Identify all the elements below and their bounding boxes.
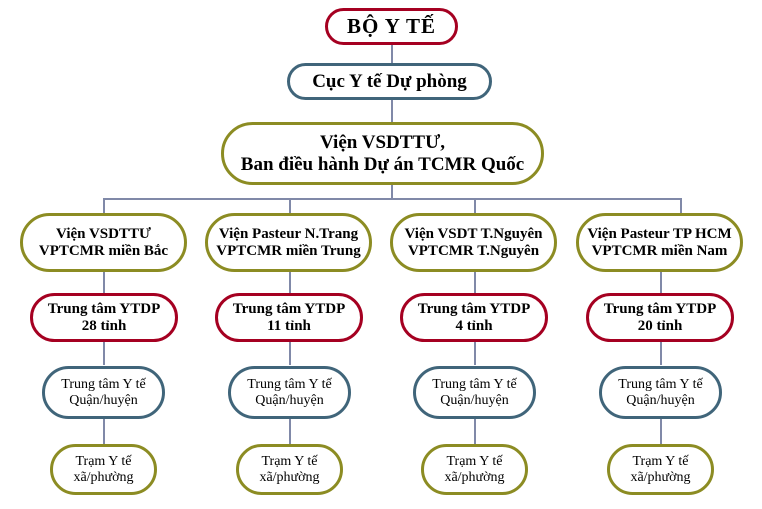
node-district-2-line-2: Quận/huyện [255,393,323,409]
node-district-4-line-2: Quận/huyện [626,393,694,409]
connector-department-to-national-institute [391,98,393,122]
node-commune-station-highlands[interactable]: Trạm Y tế xã/phường [421,444,528,495]
node-ministry[interactable]: BỘ Y TẾ [325,8,458,45]
connector-regional-bus [103,198,681,200]
node-regional-3-line-1: Viện VSDT T.Nguyên [405,226,543,243]
node-provincial-1-line-1: Trung tâm YTDP [48,301,161,318]
node-national-institute-line-1: Viện VSDTTƯ, [320,132,445,153]
connector-bus-to-regional-4 [680,198,682,213]
node-commune-1-line-1: Trạm Y tế [76,454,132,470]
org-chart-canvas: BỘ Y TẾ Cục Y tế Dự phòng Viện VSDTTƯ, B… [0,0,762,509]
node-commune-3-line-2: xã/phường [444,470,504,486]
node-regional-2-line-2: VPTCMR miền Trung [216,243,360,260]
node-commune-2-line-1: Trạm Y tế [262,454,318,470]
node-national-institute-line-2: Ban điều hành Dự án TCMR Quốc [241,154,524,175]
node-district-4-line-1: Trung tâm Y tế [618,377,702,393]
connector-provincial-to-district-3 [474,341,476,365]
node-provincial-center-highlands[interactable]: Trung tâm YTDP 4 tỉnh [400,293,548,342]
connector-national-institute-drop [391,183,393,199]
connector-regional-to-provincial-3 [474,272,476,294]
node-regional-1-line-1: Viện VSDTTƯ [56,226,151,243]
node-commune-1-line-2: xã/phường [73,470,133,486]
node-commune-3-line-1: Trạm Y tế [447,454,503,470]
node-district-center-south[interactable]: Trung tâm Y tế Quận/huyện [599,366,722,419]
node-district-1-line-2: Quận/huyện [69,393,137,409]
node-provincial-1-line-2: 28 tỉnh [82,318,127,335]
node-commune-4-line-1: Trạm Y tế [633,454,689,470]
connector-district-to-commune-4 [660,419,662,444]
node-commune-station-central[interactable]: Trạm Y tế xã/phường [236,444,343,495]
node-commune-station-north[interactable]: Trạm Y tế xã/phường [50,444,157,495]
node-regional-institute-central[interactable]: Viện Pasteur N.Trang VPTCMR miền Trung [205,213,372,272]
node-commune-2-line-2: xã/phường [259,470,319,486]
node-provincial-2-line-1: Trung tâm YTDP [233,301,346,318]
node-district-center-highlands[interactable]: Trung tâm Y tế Quận/huyện [413,366,536,419]
connector-district-to-commune-1 [103,419,105,444]
node-district-3-line-2: Quận/huyện [440,393,508,409]
connector-provincial-to-district-2 [289,341,291,365]
node-regional-institute-south[interactable]: Viện Pasteur TP HCM VPTCMR miền Nam [576,213,743,272]
node-department-line-1: Cục Y tế Dự phòng [312,71,467,92]
node-regional-4-line-2: VPTCMR miền Nam [592,243,728,260]
node-regional-institute-highlands[interactable]: Viện VSDT T.Nguyên VPTCMR T.Nguyên [390,213,557,272]
connector-regional-to-provincial-2 [289,272,291,294]
node-district-3-line-1: Trung tâm Y tế [432,377,516,393]
node-district-1-line-1: Trung tâm Y tế [61,377,145,393]
node-provincial-center-central[interactable]: Trung tâm YTDP 11 tỉnh [215,293,363,342]
node-provincial-3-line-2: 4 tỉnh [455,318,492,335]
node-provincial-center-south[interactable]: Trung tâm YTDP 20 tỉnh [586,293,734,342]
connector-regional-to-provincial-4 [660,272,662,294]
node-regional-3-line-2: VPTCMR T.Nguyên [408,243,539,260]
node-department-preventive-medicine[interactable]: Cục Y tế Dự phòng [287,63,492,100]
node-provincial-3-line-1: Trung tâm YTDP [418,301,531,318]
node-district-center-central[interactable]: Trung tâm Y tế Quận/huyện [228,366,351,419]
node-regional-2-line-1: Viện Pasteur N.Trang [219,226,358,243]
node-commune-4-line-2: xã/phường [630,470,690,486]
connector-bus-to-regional-1 [103,198,105,213]
node-provincial-4-line-1: Trung tâm YTDP [604,301,717,318]
node-provincial-center-north[interactable]: Trung tâm YTDP 28 tỉnh [30,293,178,342]
node-regional-4-line-1: Viện Pasteur TP HCM [587,226,731,243]
node-district-center-north[interactable]: Trung tâm Y tế Quận/huyện [42,366,165,419]
connector-district-to-commune-3 [474,419,476,444]
connector-provincial-to-district-4 [660,341,662,365]
node-ministry-line-1: BỘ Y TẾ [347,15,436,39]
connector-provincial-to-district-1 [103,341,105,365]
node-national-institute[interactable]: Viện VSDTTƯ, Ban điều hành Dự án TCMR Qu… [221,122,544,185]
connector-bus-to-regional-2 [289,198,291,213]
connector-district-to-commune-2 [289,419,291,444]
connector-bus-to-regional-3 [474,198,476,213]
connector-regional-to-provincial-1 [103,272,105,294]
connector-ministry-to-department [391,43,393,64]
node-district-2-line-1: Trung tâm Y tế [247,377,331,393]
node-regional-institute-north[interactable]: Viện VSDTTƯ VPTCMR miền Bắc [20,213,187,272]
node-commune-station-south[interactable]: Trạm Y tế xã/phường [607,444,714,495]
node-regional-1-line-2: VPTCMR miền Bắc [39,243,168,260]
node-provincial-2-line-2: 11 tỉnh [267,318,311,335]
node-provincial-4-line-2: 20 tỉnh [638,318,683,335]
